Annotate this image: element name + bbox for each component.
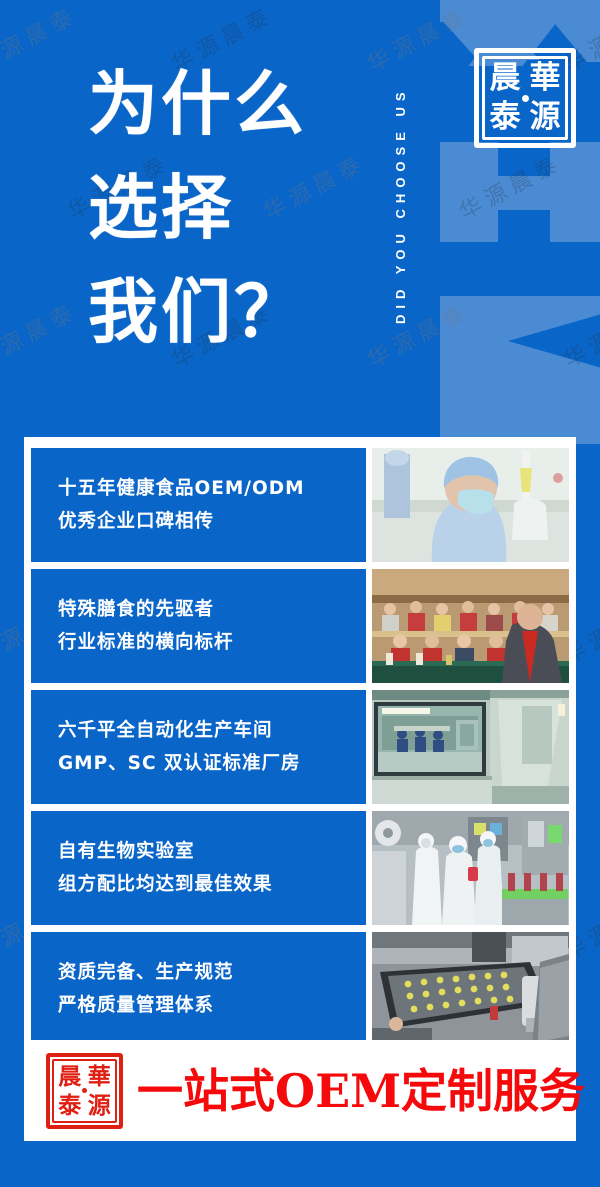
feature-line-2: 行业标准的横向标杆: [58, 626, 234, 659]
seal-glyph-chen: 晨: [55, 1062, 85, 1091]
feature-line-2: GMP、SC 双认证标准厂房: [58, 747, 301, 780]
brand-seal-logo-red: 晨 華 泰 源: [46, 1053, 123, 1129]
brand-watermark-text: 华源晨泰: [453, 146, 567, 227]
seal-glyph-yuan: 源: [85, 1091, 115, 1120]
staff-inspecting-production-line-photo: [372, 811, 569, 925]
seal-glyph-tai: 泰: [485, 98, 525, 137]
feature-text: 自有生物实验室 组方配比均达到最佳效果: [58, 835, 273, 901]
feature-line-2: 优秀企业口碑相传: [58, 505, 305, 538]
poster-root: 为什么 选择 我们？ DID YOU CHOOSE US 晨 華 泰 源 十五年…: [0, 0, 600, 1187]
page-title: 为什么 选择 我们？: [88, 52, 388, 364]
brand-watermark-text: 华源晨泰: [361, 1182, 475, 1187]
feature-line-1: 自有生物实验室: [58, 835, 273, 868]
list-item[interactable]: 十五年健康食品OEM/ODM 优秀企业口碑相传: [31, 448, 569, 562]
brand-watermark-text: 华源晨泰: [557, 294, 600, 375]
feature-line-1: 资质完备、生产规范: [58, 956, 234, 989]
vertical-subtitle: DID YOU CHOOSE US: [393, 14, 419, 396]
feature-line-1: 十五年健康食品OEM/ODM: [58, 472, 305, 505]
title-line-2: 选择: [88, 156, 388, 260]
feature-text: 六千平全自动化生产车间 GMP、SC 双认证标准厂房: [58, 714, 301, 780]
seal-glyph-chen: 晨: [485, 59, 525, 98]
industry-conference-audience-photo: [372, 569, 569, 683]
brand-watermark-text: 华源晨泰: [0, 0, 83, 78]
brand-seal-logo: 晨 華 泰 源: [474, 48, 576, 148]
list-item[interactable]: 资质完备、生产规范 严格质量管理体系: [31, 932, 569, 1046]
features-panel: 十五年健康食品OEM/ODM 优秀企业口碑相传: [24, 437, 576, 1141]
feature-line-2: 组方配比均达到最佳效果: [58, 868, 273, 901]
features-list: 十五年健康食品OEM/ODM 优秀企业口碑相传: [31, 448, 569, 1046]
brand-watermark-text: 华源晨泰: [0, 294, 83, 375]
seal-glyph-hua: 華: [85, 1062, 115, 1091]
bottom-banner: 晨 華 泰 源 一站式OEM定制服务: [24, 1040, 576, 1141]
feature-card[interactable]: 十五年健康食品OEM/ODM 优秀企业口碑相传: [31, 448, 366, 562]
feature-line-2: 严格质量管理体系: [58, 989, 234, 1022]
feature-line-1: 六千平全自动化生产车间: [58, 714, 301, 747]
title-line-3: 我们？: [88, 260, 388, 364]
list-item[interactable]: 特殊膳食的先驱者 行业标准的横向标杆: [31, 569, 569, 683]
feature-card[interactable]: 特殊膳食的先驱者 行业标准的横向标杆: [31, 569, 366, 683]
brand-watermark-text: 华源晨泰: [165, 1182, 279, 1187]
seal-glyph-yuan: 源: [525, 98, 565, 137]
feature-card[interactable]: 自有生物实验室 组方配比均达到最佳效果: [31, 811, 366, 925]
seal-center-dot: [522, 95, 529, 102]
feature-text: 十五年健康食品OEM/ODM 优秀企业口碑相传: [58, 472, 305, 538]
tablet-blister-packing-machine-photo: [372, 932, 569, 1046]
feature-text: 特殊膳食的先驱者 行业标准的横向标杆: [58, 593, 234, 659]
clean-room-production-workshop-photo: [372, 690, 569, 804]
list-item[interactable]: 自有生物实验室 组方配比均达到最佳效果: [31, 811, 569, 925]
brand-watermark-text: 华源晨泰: [0, 1182, 83, 1187]
brand-watermark-text: 华源晨泰: [557, 1182, 600, 1187]
feature-card[interactable]: 资质完备、生产规范 严格质量管理体系: [31, 932, 366, 1046]
seal-center-dot: [82, 1088, 87, 1093]
feature-text: 资质完备、生产规范 严格质量管理体系: [58, 956, 234, 1022]
lab-technician-pipetting-photo: [372, 448, 569, 562]
list-item[interactable]: 六千平全自动化生产车间 GMP、SC 双认证标准厂房: [31, 690, 569, 804]
seal-glyph-hua: 華: [525, 59, 565, 98]
seal-glyph-tai: 泰: [55, 1091, 85, 1120]
title-line-1: 为什么: [88, 52, 388, 156]
feature-line-1: 特殊膳食的先驱者: [58, 593, 234, 626]
feature-card[interactable]: 六千平全自动化生产车间 GMP、SC 双认证标准厂房: [31, 690, 366, 804]
banner-headline: 一站式OEM定制服务: [137, 1068, 585, 1114]
